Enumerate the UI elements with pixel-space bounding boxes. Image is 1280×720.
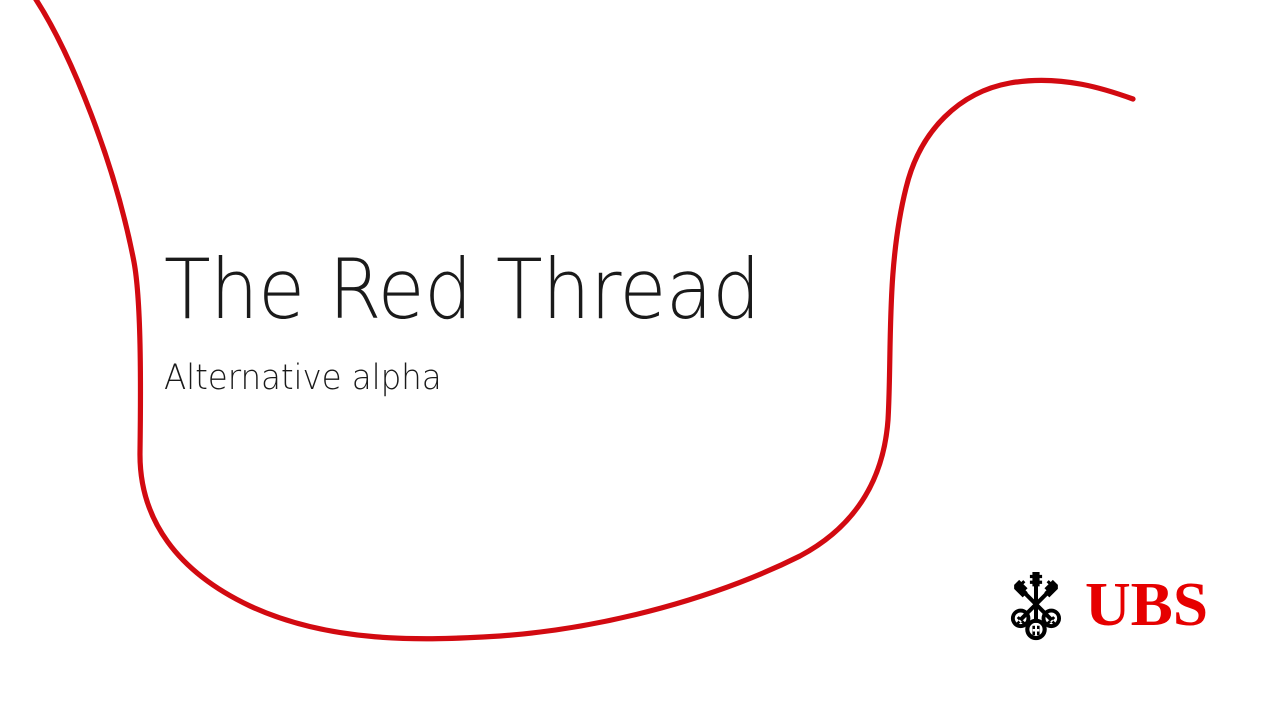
ubs-three-keys-icon — [1000, 567, 1072, 643]
slide-canvas: The Red Thread Alternative alpha — [0, 0, 1280, 720]
page-subtitle: Alternative alpha — [164, 331, 834, 396]
title-block: The Red Thread Alternative alpha — [164, 248, 884, 396]
page-title: The Red Thread — [164, 248, 826, 331]
ubs-wordmark: UBS — [1085, 574, 1208, 636]
ubs-logo: UBS — [1000, 566, 1210, 644]
